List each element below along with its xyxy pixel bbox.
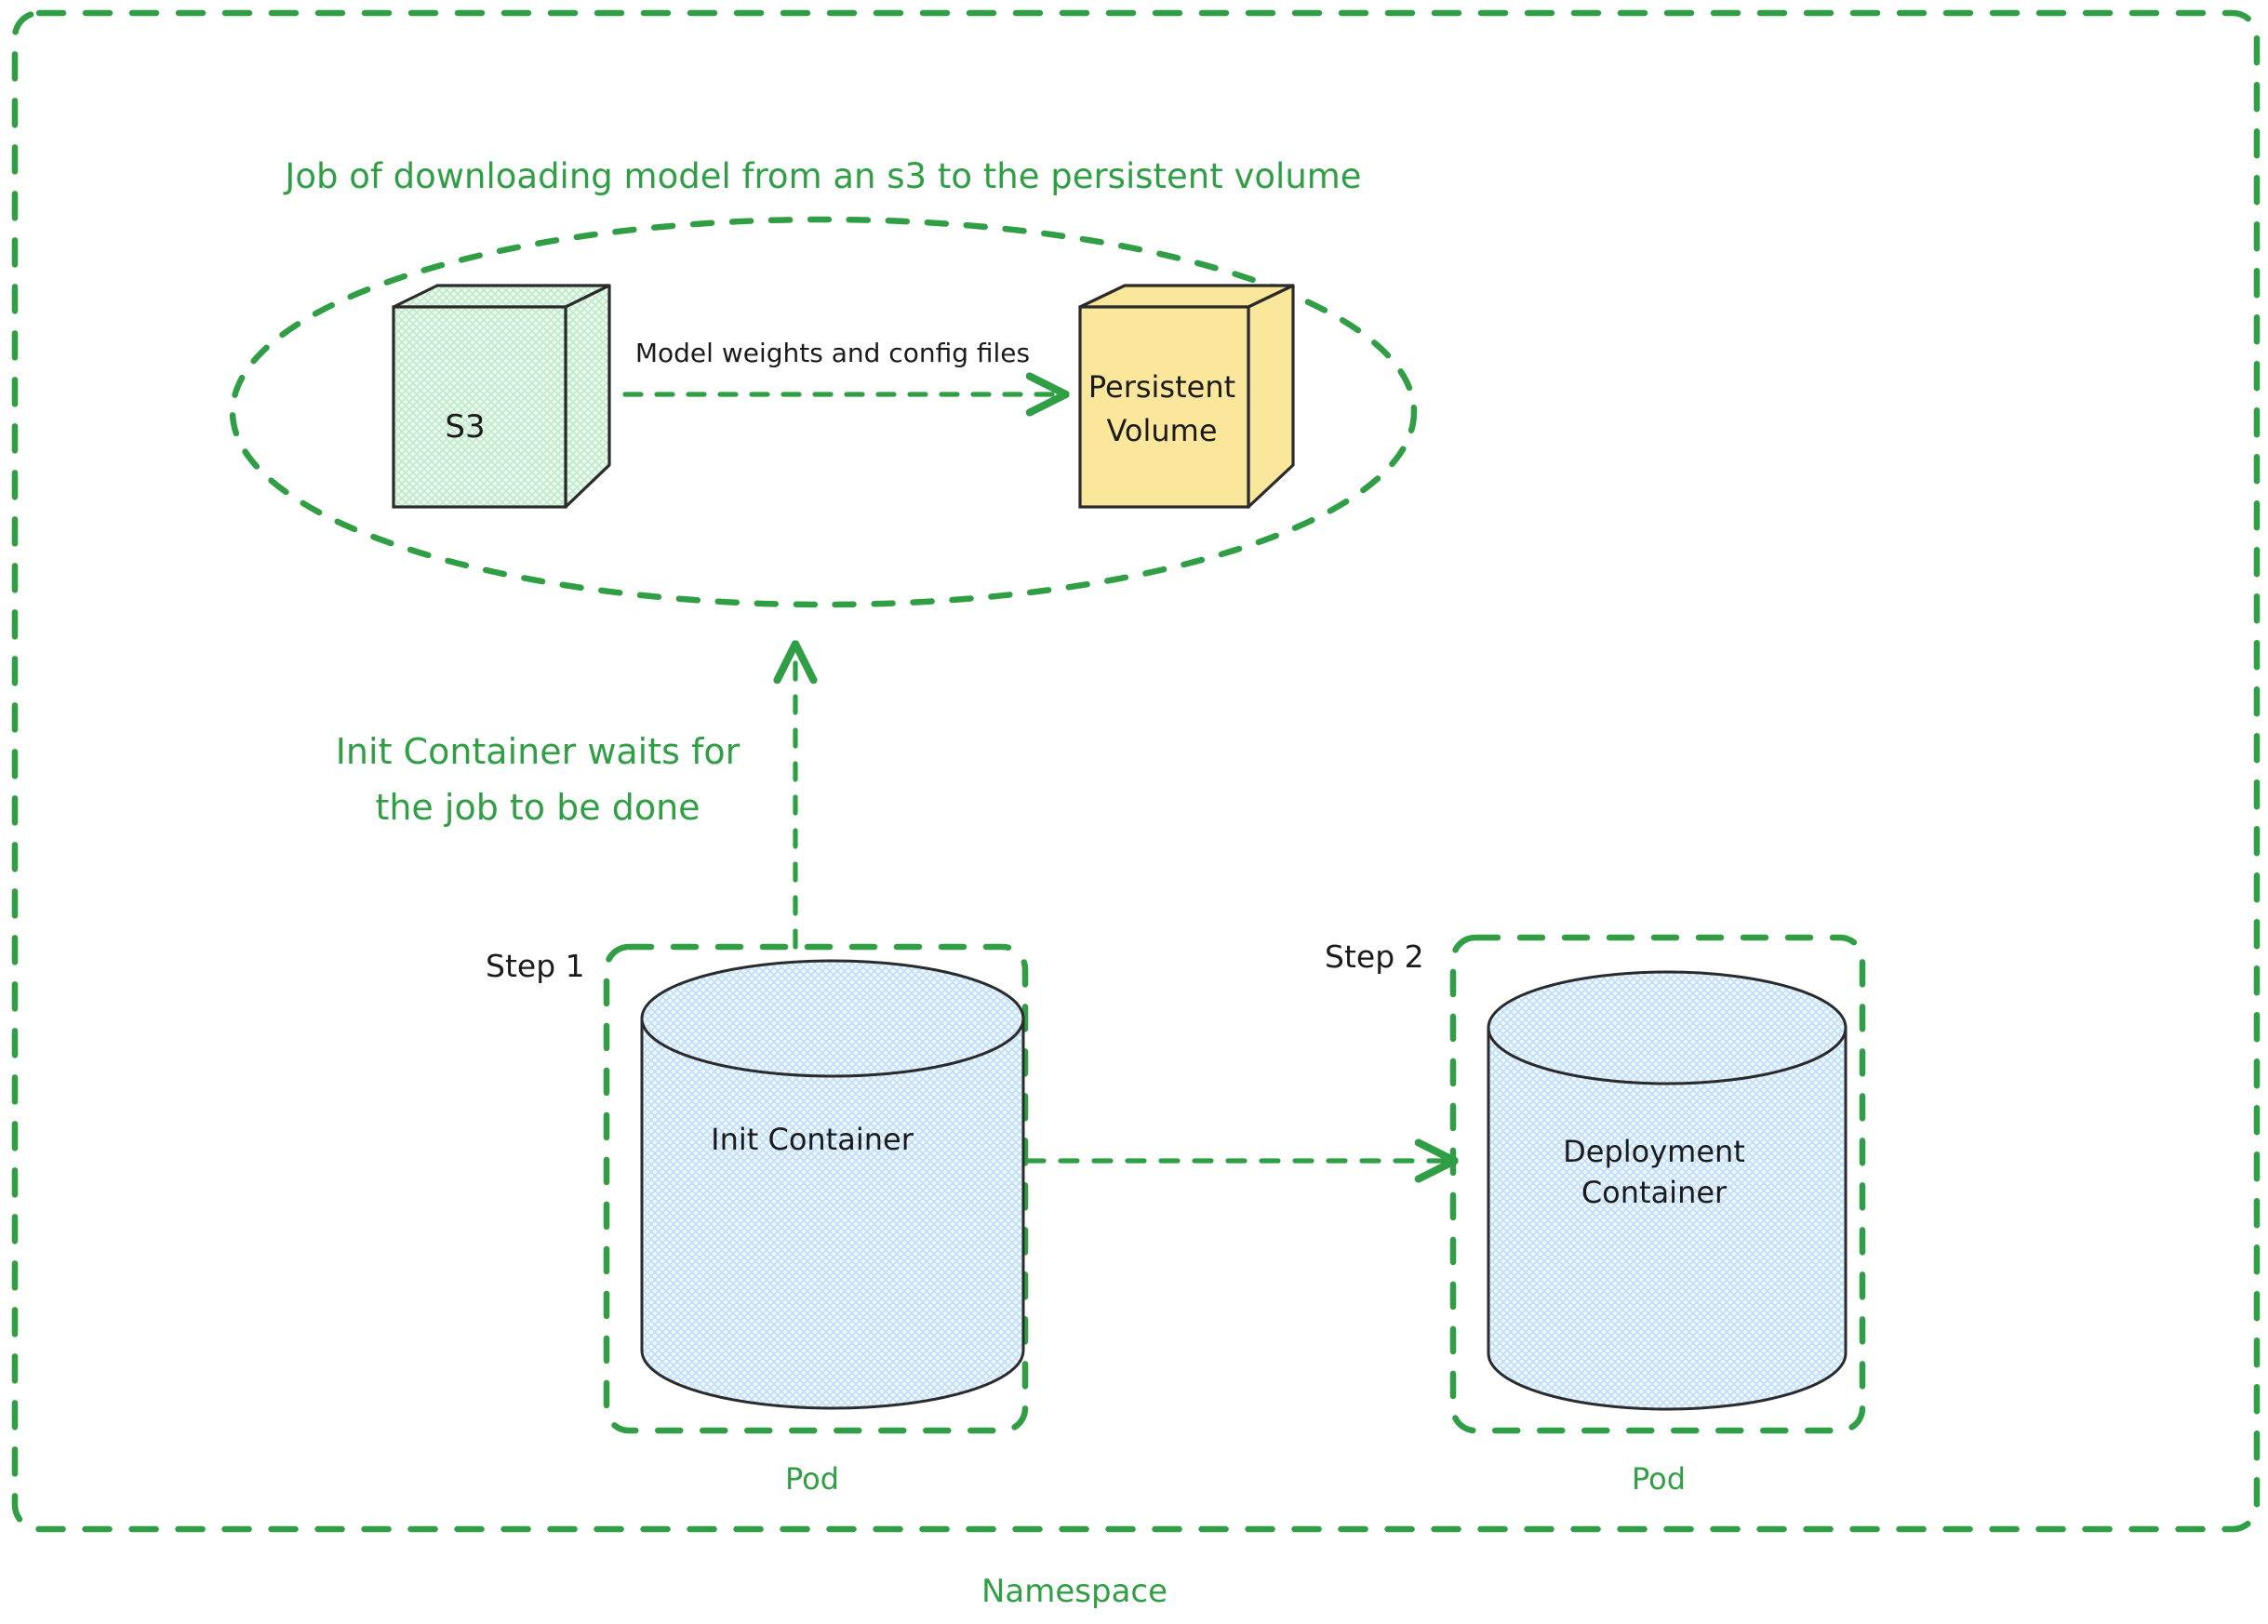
deployment-container-label-line2: Container	[1581, 1174, 1727, 1211]
model-transfer-edge-label: Model weights and config files	[635, 337, 1030, 369]
deployment-container-label-line1: Deployment	[1563, 1133, 1745, 1170]
diagram-canvas: Job of downloading model from an s3 to t…	[0, 0, 2268, 1624]
step-1-label: Step 1	[486, 947, 585, 985]
s3-node-label: S3	[445, 407, 485, 447]
persistent-volume-node-label-line1: Persistent	[1088, 368, 1235, 406]
namespace-label: Namespace	[981, 1572, 1167, 1612]
pod-2-label: Pod	[1632, 1460, 1686, 1498]
init-container-label: Init Container	[711, 1121, 914, 1158]
pod-1-label: Pod	[785, 1460, 839, 1498]
job-group-caption: Job of downloading model from an s3 to t…	[285, 155, 1361, 198]
init-container-cylinder-shape	[642, 961, 1023, 1408]
step-2-label: Step 2	[1325, 938, 1424, 976]
init-wait-label-line2: the job to be done	[375, 786, 700, 831]
persistent-volume-node-label-line2: Volume	[1106, 412, 1217, 449]
s3-cube-shape	[394, 286, 609, 507]
diagram-vector-layer	[0, 0, 2268, 1624]
init-wait-label-line1: Init Container waits for	[336, 730, 740, 775]
